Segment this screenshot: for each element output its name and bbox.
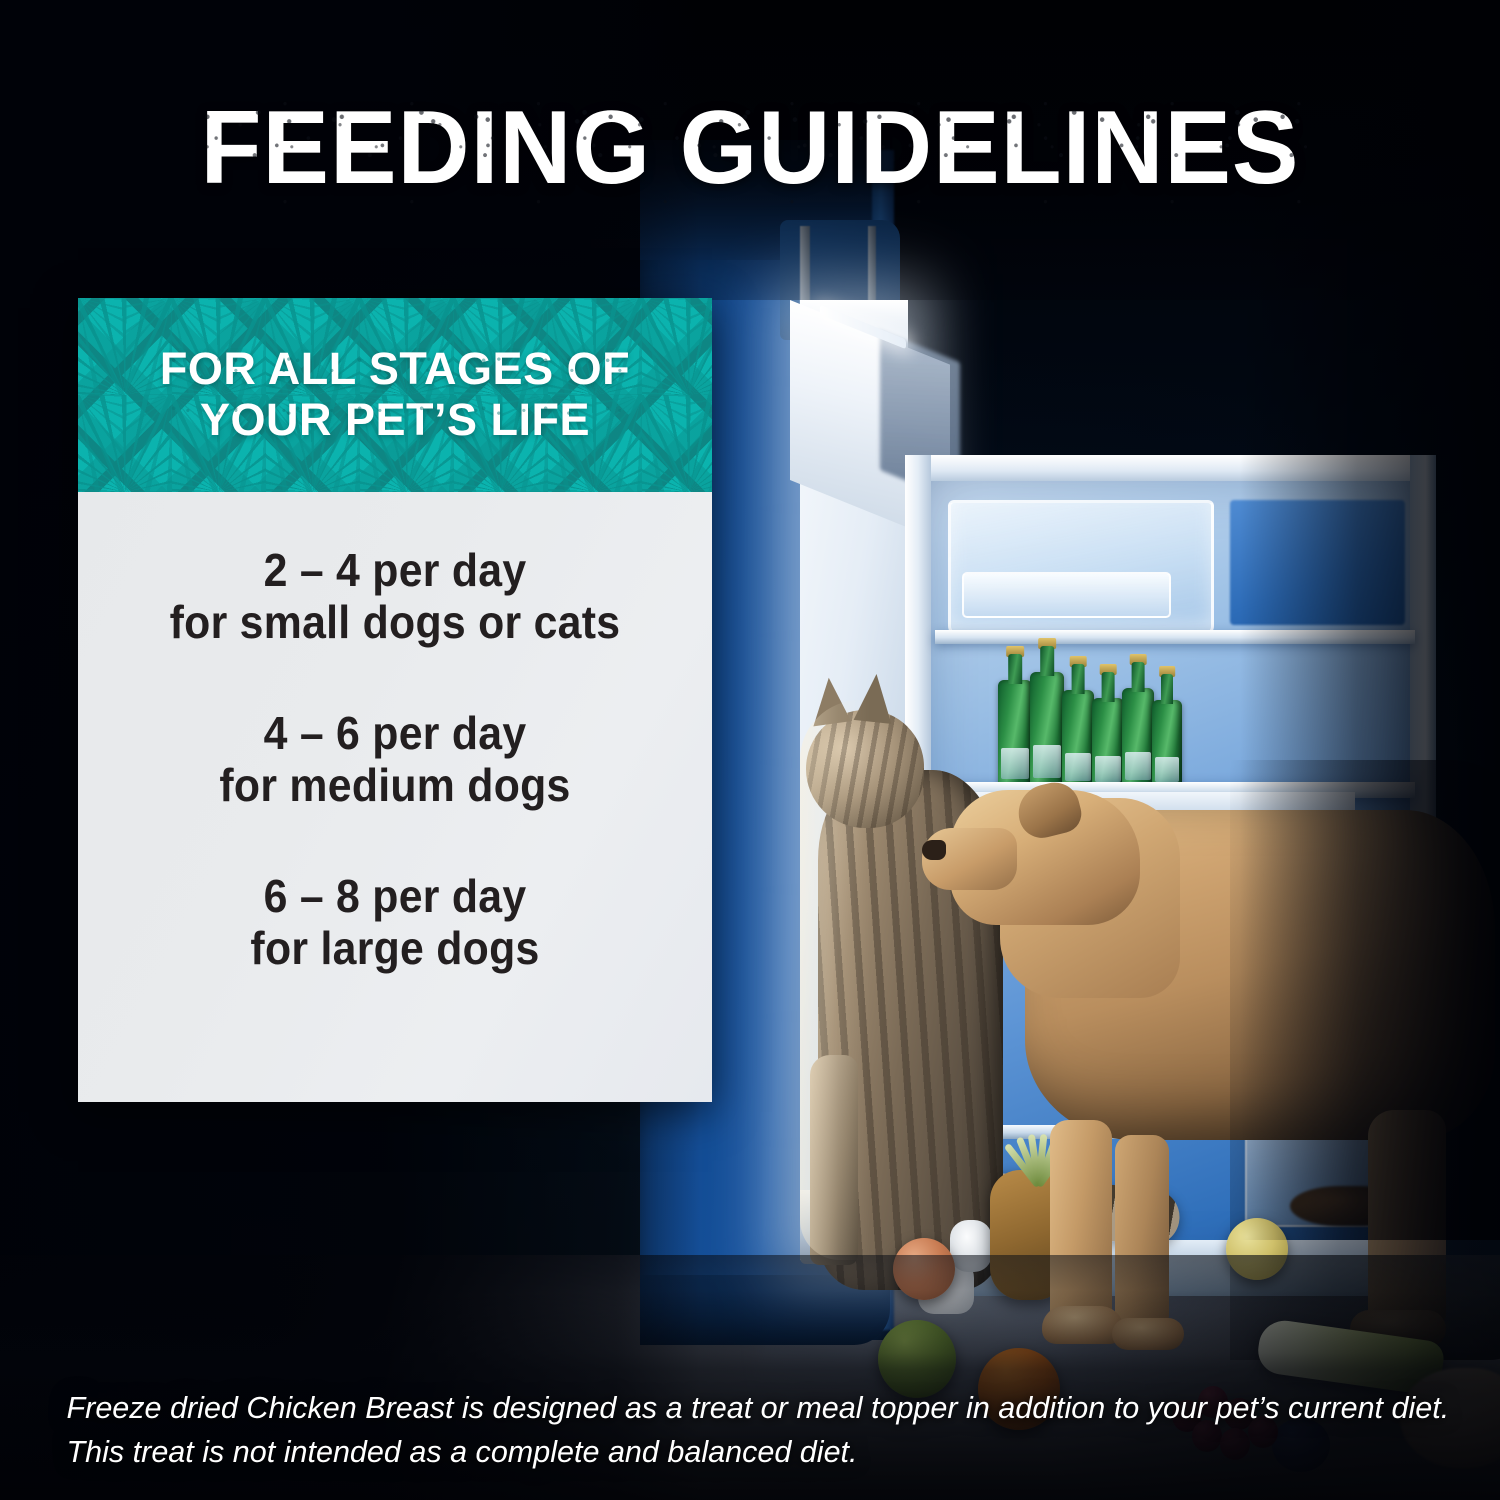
feeding-amount: 6 – 8 per day xyxy=(100,870,690,922)
feeding-row: 6 – 8 per day for large dogs xyxy=(78,870,712,975)
bottle-neck xyxy=(1008,654,1022,684)
feeding-card-header-text: FOR ALL STAGES OF YOUR PET’S LIFE xyxy=(160,344,630,446)
bottle-neck xyxy=(1040,646,1054,676)
feeding-amount: 4 – 6 per day xyxy=(100,707,690,759)
feeding-card-header: FOR ALL STAGES OF YOUR PET’S LIFE xyxy=(78,298,712,492)
feeding-description: for large dogs xyxy=(100,922,690,974)
feeding-amount: 2 – 4 per day xyxy=(100,544,690,596)
feeding-card: FOR ALL STAGES OF YOUR PET’S LIFE 2 – 4 … xyxy=(78,298,712,1102)
disclaimer-line-2: This treat is not intended as a complete… xyxy=(67,1430,1446,1474)
feeding-card-body: 2 – 4 per day for small dogs or cats 4 –… xyxy=(78,492,712,1102)
feeding-description: for medium dogs xyxy=(100,759,690,811)
page-title: FEEDING GUIDELINES xyxy=(30,96,1470,200)
feeding-row: 2 – 4 per day for small dogs or cats xyxy=(78,544,712,649)
bottle-neck xyxy=(1072,664,1085,694)
feeding-description: for small dogs or cats xyxy=(100,596,690,648)
feeding-row: 4 – 6 per day for medium dogs xyxy=(78,707,712,812)
disclaimer-line-1: Freeze dried Chicken Breast is designed … xyxy=(67,1386,1446,1430)
dog-nose xyxy=(922,840,946,860)
bottle-neck xyxy=(1102,672,1115,702)
bottle-neck xyxy=(1132,662,1145,692)
page-title-text: FEEDING GUIDELINES xyxy=(200,90,1299,206)
crisper-drawer-lid xyxy=(962,572,1171,618)
feeding-guidelines-panel: FEEDING GUIDELINES FOR ALL STAGES OF YOU… xyxy=(0,0,1500,1500)
bottle-neck xyxy=(1161,674,1173,704)
header-line-1: FOR ALL STAGES OF xyxy=(160,344,630,395)
header-line-2: YOUR PET’S LIFE xyxy=(160,395,630,446)
disclaimer: Freeze dried Chicken Breast is designed … xyxy=(67,1386,1446,1474)
cat-rim-light xyxy=(800,700,870,1260)
